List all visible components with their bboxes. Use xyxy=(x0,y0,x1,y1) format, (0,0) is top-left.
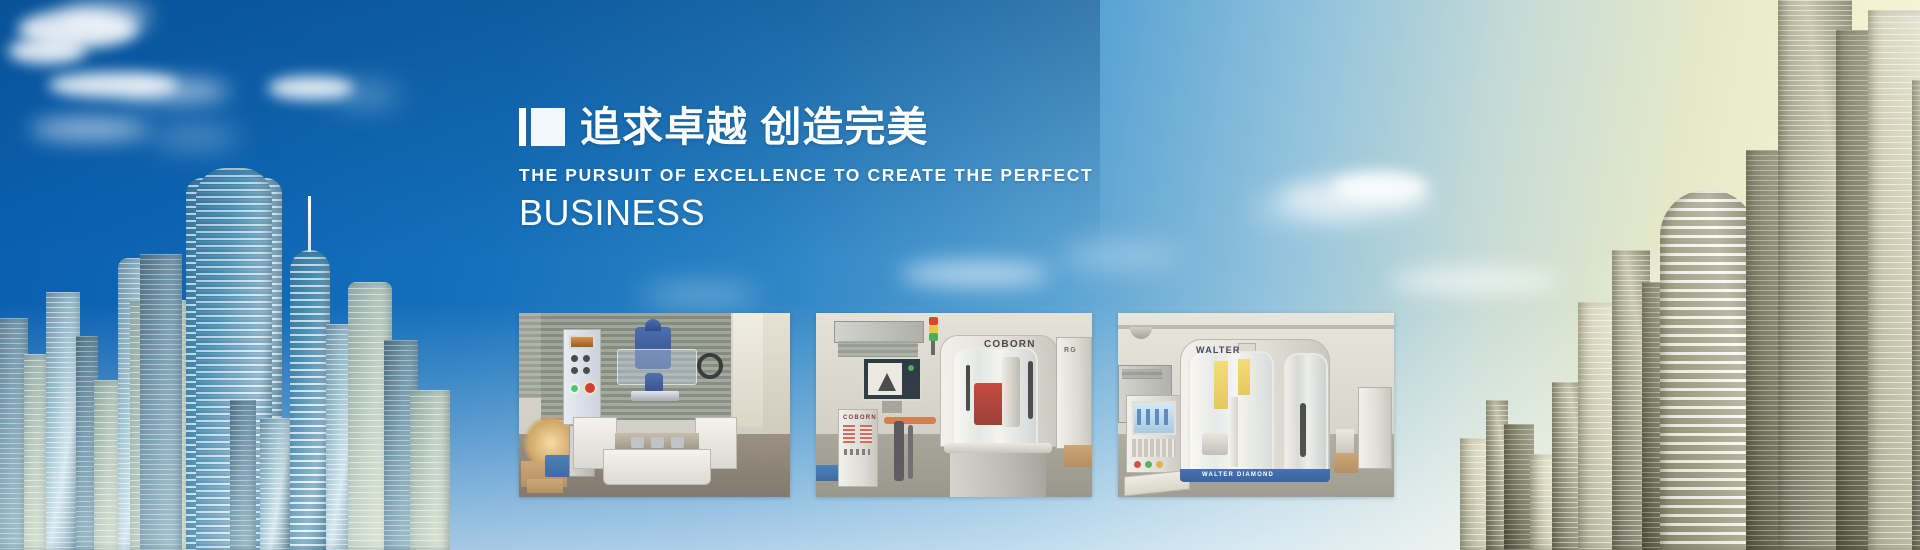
photo-strip: COBORN COBORN RG xyxy=(519,313,1394,497)
photo-inner-column xyxy=(1228,397,1238,467)
photo-bin xyxy=(816,465,838,481)
title-row: 追求卓越 创造完美 xyxy=(519,103,1219,151)
photo-grinding-wheel xyxy=(631,391,679,401)
photo-side-cabinet xyxy=(1358,387,1392,469)
photo-console-button-red-icon xyxy=(1134,461,1141,468)
photo-inner-hose xyxy=(966,365,970,411)
page-title-business: BUSINESS xyxy=(519,193,1219,233)
photo-walter-cnc[interactable]: WALTER WALTER DIAMOND xyxy=(1118,313,1394,497)
photo-handwheel-icon xyxy=(697,353,723,379)
photo-button-icon xyxy=(571,367,578,374)
photo-inner-yellow-panel xyxy=(1214,361,1228,409)
photo-spindle-shaft xyxy=(645,373,663,393)
photo-console-button-green-icon xyxy=(1145,461,1152,468)
photo-window-light xyxy=(733,313,765,427)
photo-robot-arm xyxy=(884,417,936,424)
photo-crate xyxy=(527,479,563,493)
photo-background-grille xyxy=(1122,369,1162,379)
photo-crate xyxy=(1064,445,1092,467)
photo-base-rim xyxy=(944,443,1052,453)
photo-machine-front-panel xyxy=(603,449,711,485)
photo-cabinet-buttons xyxy=(844,449,870,455)
photo-inner-spindle xyxy=(1002,357,1020,427)
photo-cabinet-strip xyxy=(843,425,855,443)
photo-monitor-shape-icon xyxy=(878,373,896,391)
photo-scene xyxy=(519,313,790,497)
photo-inner-yellow-panel xyxy=(1238,359,1250,395)
photo-signal-light-yellow-icon xyxy=(929,325,938,333)
photo-coborn-cnc[interactable]: COBORN COBORN RG xyxy=(816,313,1092,497)
photo-machine-brand-label[interactable]: COBORN xyxy=(984,339,1036,350)
logo-mark-icon xyxy=(519,108,565,146)
photo-ceiling-beam xyxy=(1118,325,1394,329)
photo-cabinet-brand-label: COBORN xyxy=(843,415,877,421)
photo-machine-brand-label[interactable]: WALTER xyxy=(1196,345,1241,355)
photo-console-screen-bars xyxy=(1137,409,1171,425)
photo-cabinet-strip xyxy=(860,425,872,443)
photo-robot-column xyxy=(894,421,904,481)
page-subtitle-english: THE PURSUIT OF EXCELLENCE TO CREATE THE … xyxy=(519,165,1219,186)
photo-base-pedestal xyxy=(950,447,1046,497)
photo-inner-hose xyxy=(1028,361,1033,419)
photo-scene: COBORN COBORN RG xyxy=(816,313,1092,497)
headline-block: 追求卓越 创造完美 THE PURSUIT OF EXCELLENCE TO C… xyxy=(519,103,1219,233)
photo-signal-light-red-icon xyxy=(929,317,938,325)
photo-console-keypad xyxy=(1132,439,1176,457)
logo-square-icon xyxy=(531,108,565,146)
photo-surface-grinder[interactable] xyxy=(519,313,790,497)
photo-control-screen xyxy=(569,335,595,349)
photo-machine-model-label: RG xyxy=(1064,347,1077,354)
corporate-banner: 追求卓越 创造完美 THE PURSUIT OF EXCELLENCE TO C… xyxy=(0,0,1920,550)
photo-inner-chuck xyxy=(1202,433,1228,455)
photo-back-hood xyxy=(834,321,924,343)
photo-console-button-amber-icon xyxy=(1156,461,1163,468)
photo-start-button-icon xyxy=(569,383,580,394)
photo-brand-band-label: WALTER DIAMOND xyxy=(1202,472,1274,478)
photo-wall-right xyxy=(763,313,790,442)
photo-inner-hose xyxy=(1300,403,1306,457)
photo-container xyxy=(1336,429,1354,453)
photo-button-icon xyxy=(583,367,590,374)
photo-button-icon xyxy=(583,355,590,362)
photo-signal-light-green-icon xyxy=(929,333,938,341)
photo-monitor-led-icon xyxy=(908,365,914,371)
photo-estop-button-icon xyxy=(583,381,597,395)
photo-workpiece xyxy=(631,437,644,448)
photo-shutter xyxy=(519,313,541,398)
photo-signal-pole xyxy=(931,341,935,355)
page-title-chinese: 追求卓越 创造完美 xyxy=(580,105,928,149)
photo-workpiece xyxy=(651,437,664,448)
photo-back-louver xyxy=(838,341,918,357)
photo-button-icon xyxy=(571,355,578,362)
photo-spindle-neck xyxy=(645,319,661,331)
photo-enclosure-glass-door-right xyxy=(1284,353,1328,479)
photo-scene: WALTER WALTER DIAMOND xyxy=(1118,313,1394,497)
logo-bar-icon xyxy=(519,108,526,146)
photo-cable xyxy=(908,425,913,479)
photo-crate xyxy=(1334,453,1358,473)
photo-workpiece xyxy=(671,437,684,448)
photo-monitor-stand xyxy=(882,401,902,413)
